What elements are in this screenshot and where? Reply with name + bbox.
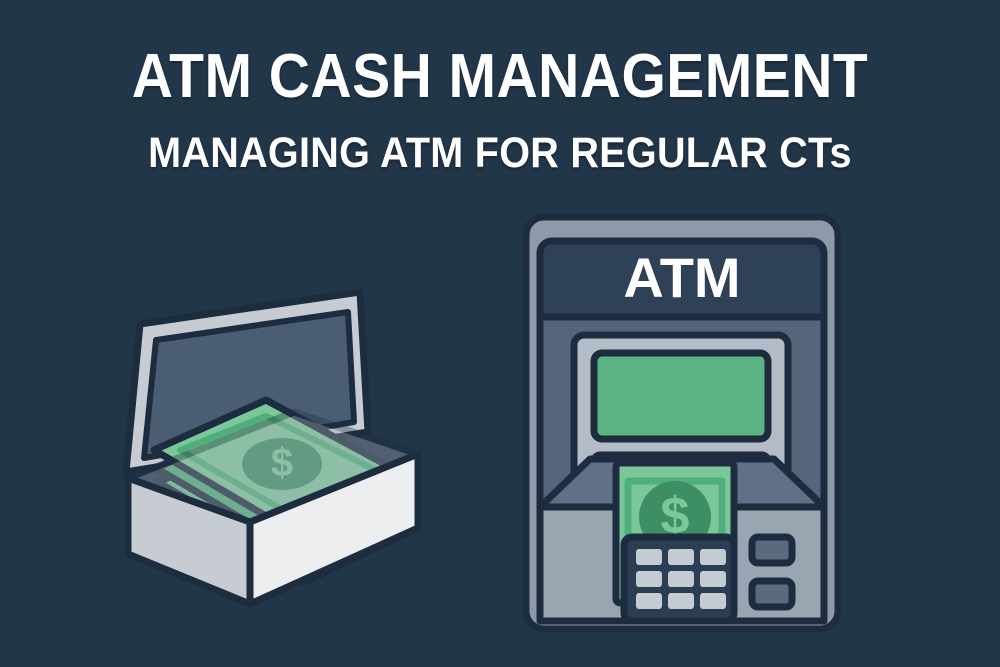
- cash-box-illustration: $: [118, 282, 438, 612]
- page-title: ATM CASH MANAGEMENT: [40, 46, 960, 108]
- keypad-keys: [636, 549, 726, 609]
- atm-screen: [594, 353, 768, 439]
- atm-brand-label: ATM: [623, 246, 740, 309]
- card-slot-upper: [752, 537, 792, 563]
- title-block: ATM CASH MANAGEMENT MANAGING ATM FOR REG…: [0, 46, 1000, 175]
- card-slot-lower: [752, 581, 792, 607]
- atm-illustration: $: [512, 205, 852, 640]
- page-subtitle: MANAGING ATM FOR REGULAR CTs: [40, 132, 960, 175]
- poster-canvas: ATM CASH MANAGEMENT MANAGING ATM FOR REG…: [0, 0, 1000, 667]
